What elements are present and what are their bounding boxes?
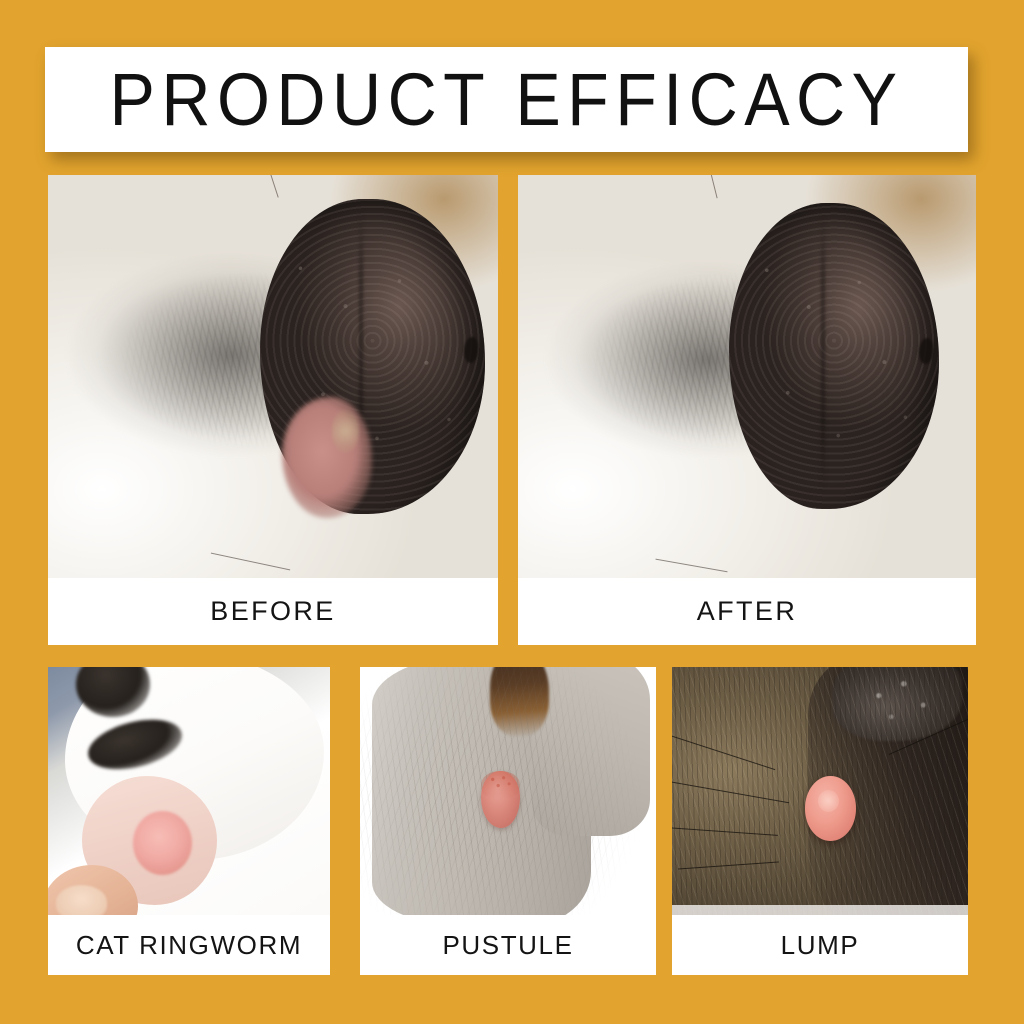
before-label: BEFORE bbox=[210, 598, 335, 625]
lesion-crust bbox=[332, 409, 359, 453]
pustule-crusted-top bbox=[481, 771, 519, 798]
after-photo bbox=[518, 175, 976, 578]
lump-highlight bbox=[818, 790, 839, 812]
cat-ringworm-label: CAT RINGWORM bbox=[76, 932, 302, 958]
cat-ringworm-photo bbox=[48, 667, 330, 915]
before-caption-bar: BEFORE bbox=[48, 578, 498, 645]
ringworm-lesion bbox=[133, 811, 192, 875]
page-title: PRODUCT EFFICACY bbox=[110, 63, 904, 137]
pustule-caption-bar: PUSTULE bbox=[360, 915, 656, 975]
before-photo bbox=[48, 175, 498, 578]
before-card[interactable]: BEFORE bbox=[48, 175, 498, 645]
product-efficacy-poster: PRODUCT EFFICACY BEFORE bbox=[0, 0, 1024, 1024]
thumb-nail bbox=[56, 885, 107, 915]
dark-nose bbox=[729, 203, 940, 509]
pustule-nodule bbox=[481, 771, 519, 828]
after-label: AFTER bbox=[697, 598, 798, 625]
pink-lesion-patch bbox=[282, 397, 372, 518]
lump-caption-bar: LUMP bbox=[672, 915, 968, 975]
nose-crease bbox=[821, 215, 825, 491]
title-banner: PRODUCT EFFICACY bbox=[45, 47, 968, 152]
lump-photo bbox=[672, 667, 968, 915]
lump-label: LUMP bbox=[781, 932, 860, 958]
pustule-photo bbox=[360, 667, 656, 915]
cat-ringworm-card[interactable]: CAT RINGWORM bbox=[48, 667, 330, 975]
nose-skin-texture bbox=[729, 203, 940, 509]
after-card[interactable]: AFTER bbox=[518, 175, 976, 645]
lump-card[interactable]: LUMP bbox=[672, 667, 968, 975]
pustule-label: PUSTULE bbox=[442, 932, 573, 958]
cat-ringworm-caption-bar: CAT RINGWORM bbox=[48, 915, 330, 975]
photo-bottom-strip bbox=[672, 905, 968, 915]
after-caption-bar: AFTER bbox=[518, 578, 976, 645]
lump-nodule bbox=[805, 776, 855, 840]
pustule-card[interactable]: PUSTULE bbox=[360, 667, 656, 975]
